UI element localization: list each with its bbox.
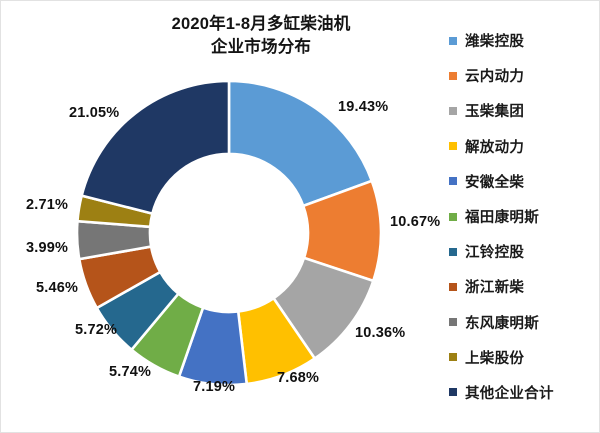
legend-item[interactable]: 解放动力	[449, 129, 595, 164]
legend-item-label: 潍柴控股	[465, 30, 524, 51]
legend-swatch-icon	[449, 72, 457, 80]
chart-title: 2020年1-8月多缸柴油机 企业市场分布	[91, 13, 431, 60]
legend-item[interactable]: 东风康明斯	[449, 305, 595, 340]
pie-data-label: 3.99%	[26, 240, 68, 256]
legend-swatch-icon	[449, 37, 457, 45]
legend-item-label: 云内动力	[465, 65, 524, 86]
legend-item[interactable]: 云内动力	[449, 58, 595, 93]
legend-item[interactable]: 潍柴控股	[449, 23, 595, 58]
legend-item-label: 上柴股份	[465, 347, 524, 368]
legend-swatch-icon	[449, 142, 457, 150]
pie-data-label: 10.36%	[355, 325, 405, 341]
legend-item-label: 安徽全柴	[465, 171, 524, 192]
legend-item-label: 东风康明斯	[465, 312, 539, 333]
legend-swatch-icon	[449, 353, 457, 361]
legend-swatch-icon	[449, 388, 457, 396]
pie-data-label: 7.19%	[193, 379, 235, 395]
pie-data-label: 5.46%	[36, 280, 78, 296]
legend: 潍柴控股云内动力玉柴集团解放动力安徽全柴福田康明斯江铃控股浙江新柴东风康明斯上柴…	[449, 23, 595, 410]
chart-container: 2020年1-8月多缸柴油机 企业市场分布 19.43%10.67%10.36%…	[0, 0, 600, 433]
legend-item[interactable]: 上柴股份	[449, 340, 595, 375]
legend-item-label: 玉柴集团	[465, 100, 524, 121]
legend-swatch-icon	[449, 283, 457, 291]
pie-data-label: 5.74%	[109, 364, 151, 380]
legend-swatch-icon	[449, 248, 457, 256]
legend-item-label: 解放动力	[465, 136, 524, 157]
pie-data-label: 2.71%	[26, 197, 68, 213]
legend-swatch-icon	[449, 318, 457, 326]
legend-item[interactable]: 浙江新柴	[449, 269, 595, 304]
legend-item[interactable]: 玉柴集团	[449, 93, 595, 128]
doughnut-slices	[77, 81, 381, 385]
pie-data-label: 19.43%	[338, 99, 388, 115]
legend-item[interactable]: 福田康明斯	[449, 199, 595, 234]
pie-data-label: 7.68%	[277, 370, 319, 386]
legend-swatch-icon	[449, 213, 457, 221]
doughnut-chart-plot	[69, 73, 389, 393]
legend-item[interactable]: 安徽全柴	[449, 164, 595, 199]
doughnut-svg	[69, 73, 389, 393]
pie-slice[interactable]	[82, 81, 229, 214]
legend-item-label: 其他企业合计	[465, 382, 554, 403]
legend-item-label: 江铃控股	[465, 241, 524, 262]
legend-item[interactable]: 江铃控股	[449, 234, 595, 269]
legend-swatch-icon	[449, 177, 457, 185]
pie-data-label: 5.72%	[75, 322, 117, 338]
legend-item-label: 福田康明斯	[465, 206, 539, 227]
legend-item-label: 浙江新柴	[465, 276, 524, 297]
pie-data-label: 21.05%	[69, 105, 119, 121]
pie-data-label: 10.67%	[390, 214, 440, 230]
legend-item[interactable]: 其他企业合计	[449, 375, 595, 410]
legend-swatch-icon	[449, 107, 457, 115]
